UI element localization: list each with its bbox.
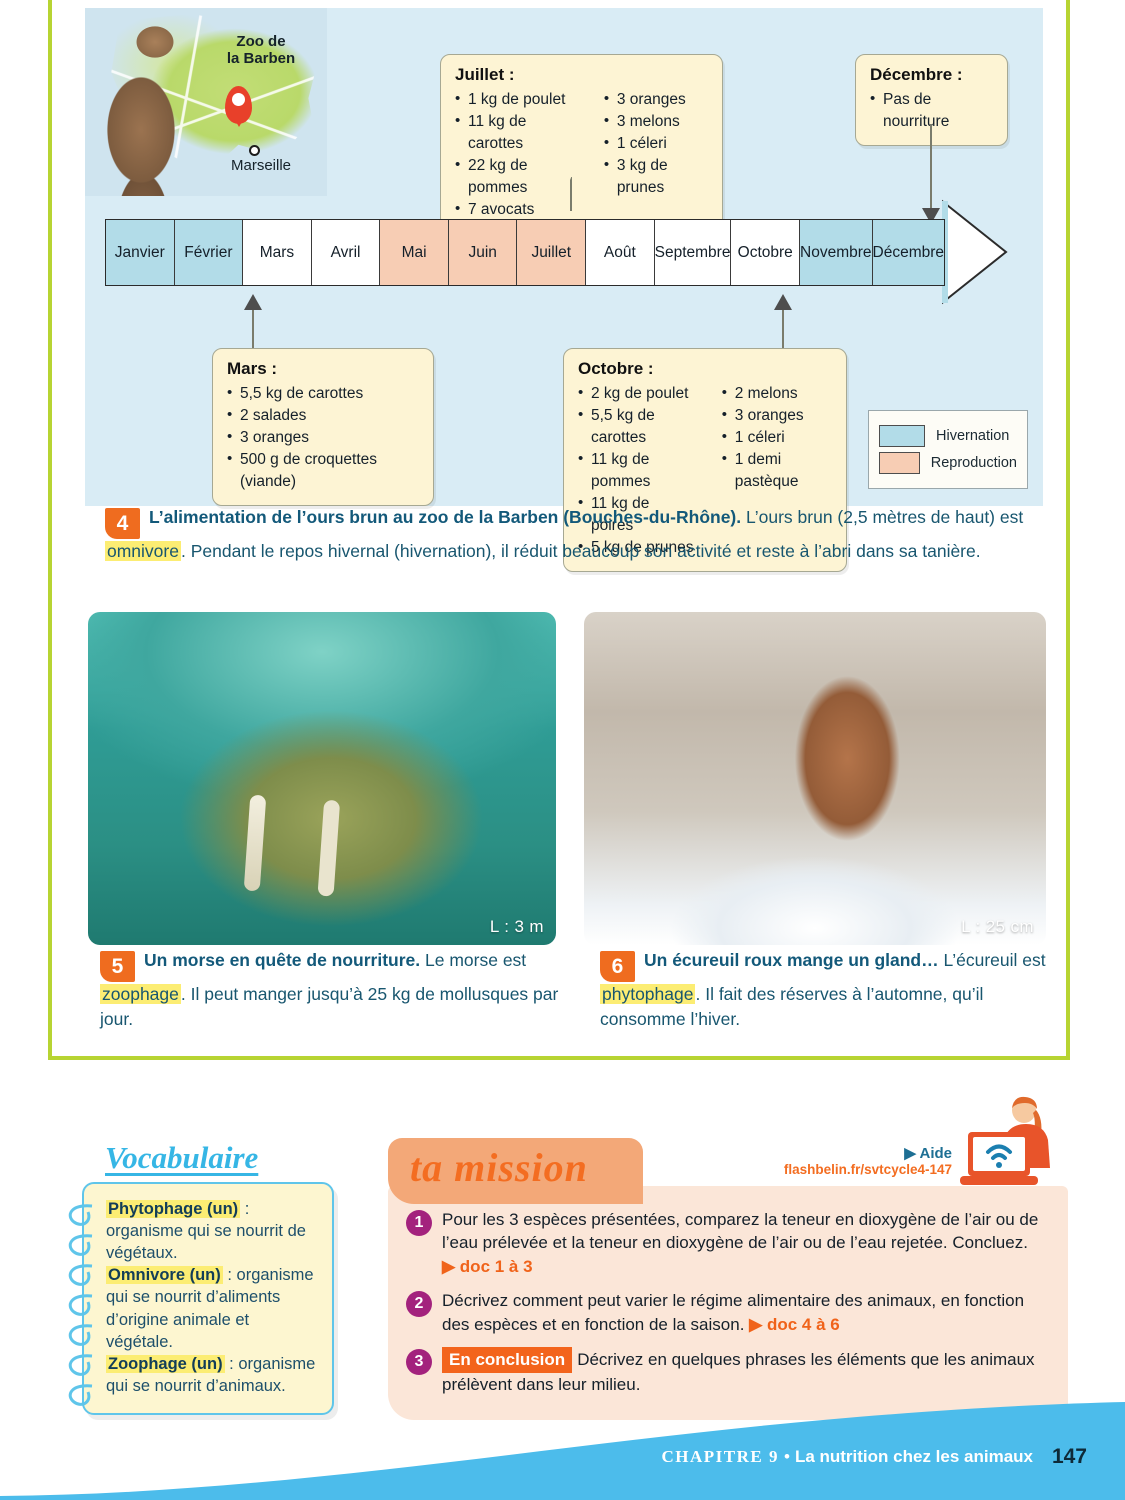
provence-map: Zoo de la Barben Marseille xyxy=(85,8,327,196)
aide-url[interactable]: flashbelin.fr/svtcycle4-147 xyxy=(784,1162,952,1177)
timeline-arrowhead xyxy=(942,199,1008,305)
timeline-month-label: Octobre xyxy=(738,244,793,262)
callout-decembre-title: Décembre : xyxy=(870,65,993,85)
timeline-month-dcembre: Décembre xyxy=(873,220,945,285)
figure-6-caption-rest-a: L’écureuil est xyxy=(939,950,1046,970)
mission-doc-reference[interactable]: ▶ doc 4 à 6 xyxy=(749,1315,840,1334)
figure-5-caption: 5Un morse en quête de nourriture. Le mor… xyxy=(100,948,570,1032)
figure-4-caption-rest-a: L’ours brun (2,5 mètres de haut) est xyxy=(741,507,1023,527)
vocabulary-entry: Phytophage (un) : organisme qui se nourr… xyxy=(106,1198,316,1264)
timeline-month-label: Novembre xyxy=(800,244,872,262)
figure-5-caption-rest-a: Le morse est xyxy=(420,950,526,970)
list-item: 1 kg de poulet xyxy=(455,89,578,111)
timeline-month-fvrier: Février xyxy=(175,220,244,285)
figure-5-number: 5 xyxy=(100,951,135,982)
timeline-month-label: Septembre xyxy=(655,244,731,262)
list-item: 5,5 kg de carottes xyxy=(227,383,419,405)
figure-4-highlight-term: omnivore xyxy=(105,541,181,561)
timeline-month-novembre: Novembre xyxy=(800,220,873,285)
footer-separator: • xyxy=(784,1447,790,1466)
list-item: 7 avocats xyxy=(455,199,578,221)
squirrel-scale-label: L : 25 cm xyxy=(961,917,1034,937)
footer-wave-band xyxy=(0,1390,1125,1500)
timeline-month-label: Février xyxy=(184,244,232,262)
list-item: 2 salades xyxy=(227,405,419,427)
legend-row: Reproduction xyxy=(879,452,1017,474)
figure-6-caption: 6Un écureuil roux mange un gland… L’écur… xyxy=(600,948,1060,1032)
timeline-month-label: Mars xyxy=(260,244,294,262)
callout-juillet-title: Juillet : xyxy=(455,65,708,85)
laptop-wifi-icon xyxy=(952,1096,1052,1206)
figure-5-caption-text: Un morse en quête de nourriture. Le mors… xyxy=(100,950,558,1029)
spiral-binding-icon xyxy=(62,1198,102,1413)
conclusion-badge: En conclusion xyxy=(442,1347,572,1372)
mission-question-list: 1Pour les 3 espèces présentées, comparez… xyxy=(406,1208,1054,1407)
list-item: 3 oranges xyxy=(604,89,708,111)
timeline-month-label: Mai xyxy=(402,244,427,262)
figure-4-caption: 4L’alimentation de l’ours brun au zoo de… xyxy=(105,505,1055,564)
mission-title: ta mission xyxy=(410,1144,588,1191)
callout-juillet-col2: 3 oranges 3 melons 1 céleri 3 kg de prun… xyxy=(604,89,708,221)
vocabulary-entry: Omnivore (un) : organisme qui se nourrit… xyxy=(106,1264,316,1352)
timeline-legend: HivernationReproduction xyxy=(868,410,1028,489)
callout-mars-col1: 5,5 kg de carottes 2 salades 3 oranges 5… xyxy=(227,383,419,493)
legend-row: Hivernation xyxy=(879,425,1017,447)
list-item: 3 oranges xyxy=(722,405,832,427)
timeline-month-label: Janvier xyxy=(115,244,165,262)
timeline-month-label: Avril xyxy=(331,244,361,262)
footer-chapter-number: CHAPITRE 9 xyxy=(662,1447,779,1466)
timeline-month-octobre: Octobre xyxy=(731,220,800,285)
legend-swatch xyxy=(879,452,920,474)
callout-mars-stem xyxy=(252,308,254,350)
figure-4-number: 4 xyxy=(105,508,140,539)
legend-label: Reproduction xyxy=(931,455,1017,471)
timeline-month-aot: Août xyxy=(586,220,655,285)
figure-6-caption-text: Un écureuil roux mange un gland… L’écure… xyxy=(600,950,1046,1029)
callout-juillet-stem xyxy=(570,177,572,211)
figure-4-caption-rest-b: . Pendant le repos hivernal (hivernation… xyxy=(181,541,981,561)
figure-5-highlight-term: zoophage xyxy=(100,984,181,1004)
map-city-label: Marseille xyxy=(211,158,311,175)
vocabulary-term: Omnivore (un) xyxy=(106,1266,223,1284)
marseille-dot-icon xyxy=(249,145,260,156)
map-pin-icon xyxy=(225,86,252,124)
callout-mars-arrow xyxy=(244,294,262,310)
list-item: 1 céleri xyxy=(722,427,832,449)
legend-swatch xyxy=(879,425,925,447)
list-item: 11 kg de pommes xyxy=(578,449,696,493)
list-item: 2 melons xyxy=(722,383,832,405)
doc4-infographic-panel: Zoo de la Barben Marseille Juillet : 1 k… xyxy=(85,8,1043,506)
callout-octobre-arrow xyxy=(774,294,792,310)
mission-question-text: Pour les 3 espèces présentées, comparez … xyxy=(442,1208,1054,1278)
callout-octobre-title: Octobre : xyxy=(578,359,832,379)
footer-chapter-subject: La nutrition chez les animaux xyxy=(795,1447,1033,1466)
walrus-scale-label: L : 3 m xyxy=(490,917,544,937)
list-item: 3 melons xyxy=(604,111,708,133)
list-item: 22 kg de pommes xyxy=(455,155,578,199)
figure-4-caption-bold: L’alimentation de l’ours brun au zoo de … xyxy=(149,507,741,527)
map-zoo-label: Zoo de la Barben xyxy=(213,34,309,67)
timeline-month-juin: Juin xyxy=(449,220,518,285)
timeline-month-juillet: Juillet xyxy=(517,220,586,285)
timeline-month-mai: Mai xyxy=(380,220,449,285)
list-item: 2 kg de poulet xyxy=(578,383,696,405)
list-item: 3 oranges xyxy=(227,427,419,449)
mission-question-text: Décrivez comment peut varier le régime a… xyxy=(442,1289,1054,1336)
callout-octobre-stem xyxy=(782,308,784,350)
mission-question-number: 1 xyxy=(406,1210,432,1236)
callout-decembre-stem xyxy=(930,124,932,216)
list-item: 1 céleri xyxy=(604,133,708,155)
figure-4-caption-text: L’alimentation de l’ours brun au zoo de … xyxy=(105,507,1023,561)
mission-question-number: 3 xyxy=(406,1349,432,1375)
timeline-month-avril: Avril xyxy=(312,220,381,285)
vocabulary-term: Zoophage (un) xyxy=(106,1355,225,1373)
figure-6-caption-bold: Un écureuil roux mange un gland… xyxy=(644,950,939,970)
timeline-month-label: Décembre xyxy=(873,244,945,262)
seasonal-timeline: JanvierFévrierMarsAvrilMaiJuinJuilletAoû… xyxy=(105,219,945,286)
timeline-month-septembre: Septembre xyxy=(655,220,732,285)
timeline-month-label: Juin xyxy=(468,244,496,262)
callout-juillet: Juillet : 1 kg de poulet 11 kg de carott… xyxy=(440,54,723,234)
squirrel-photo: L : 25 cm xyxy=(584,612,1046,945)
timeline-month-janvier: Janvier xyxy=(106,220,175,285)
textbook-page: Zoo de la Barben Marseille Juillet : 1 k… xyxy=(0,0,1125,1500)
mission-question-text: En conclusionDécrivez en quelques phrase… xyxy=(442,1347,1054,1396)
mission-question: 2Décrivez comment peut varier le régime … xyxy=(406,1289,1054,1336)
figure-5-caption-bold: Un morse en quête de nourriture. xyxy=(144,950,420,970)
legend-label: Hivernation xyxy=(936,428,1009,444)
mission-question-number: 2 xyxy=(406,1291,432,1317)
timeline-arrowhead-svg xyxy=(942,199,1008,305)
walrus-photo: L : 3 m xyxy=(88,612,556,945)
vocabulary-entry-list: Phytophage (un) : organisme qui se nourr… xyxy=(106,1198,316,1397)
list-item: 11 kg de carottes xyxy=(455,111,578,155)
figure-6-number: 6 xyxy=(600,951,635,982)
mission-question: 1Pour les 3 espèces présentées, comparez… xyxy=(406,1208,1054,1278)
vocabulary-box: Phytophage (un) : organisme qui se nourr… xyxy=(82,1182,334,1415)
footer-chapter-text: CHAPITRE 9•La nutrition chez les animaux xyxy=(662,1447,1034,1467)
aide-block[interactable]: ▶ Aide flashbelin.fr/svtcycle4-147 xyxy=(784,1144,952,1177)
callout-mars-title: Mars : xyxy=(227,359,419,379)
callout-mars: Mars : 5,5 kg de carottes 2 salades 3 or… xyxy=(212,348,434,506)
list-item: 500 g de croquettes (viande) xyxy=(227,449,419,493)
list-item: 5,5 kg de carottes xyxy=(578,405,696,449)
vocabulary-title: Vocabulaire xyxy=(105,1140,350,1176)
page-number: 147 xyxy=(1052,1445,1087,1469)
list-item: 3 kg de prunes xyxy=(604,155,708,199)
timeline-month-label: Août xyxy=(604,244,636,262)
timeline-month-mars: Mars xyxy=(243,220,312,285)
aide-label[interactable]: ▶ Aide xyxy=(784,1144,952,1162)
brown-bear-illustration xyxy=(91,12,203,196)
figure-6-highlight-term: phytophage xyxy=(600,984,695,1004)
mission-doc-reference[interactable]: ▶ doc 1 à 3 xyxy=(442,1257,533,1276)
mission-question: 3En conclusionDécrivez en quelques phras… xyxy=(406,1347,1054,1396)
vocabulary-section: Vocabulaire Phytophage (un) : organisme … xyxy=(60,1140,350,1415)
mission-section: ta mission ▶ Aide flashbelin.fr/svtcycle… xyxy=(388,1138,1068,1420)
list-item: 1 demi pastèque xyxy=(722,449,832,493)
timeline-month-label: Juillet xyxy=(531,244,571,262)
vocabulary-term: Phytophage (un) xyxy=(106,1200,240,1218)
callout-juillet-tail xyxy=(561,158,579,180)
callout-juillet-col1: 1 kg de poulet 11 kg de carottes 22 kg d… xyxy=(455,89,578,221)
